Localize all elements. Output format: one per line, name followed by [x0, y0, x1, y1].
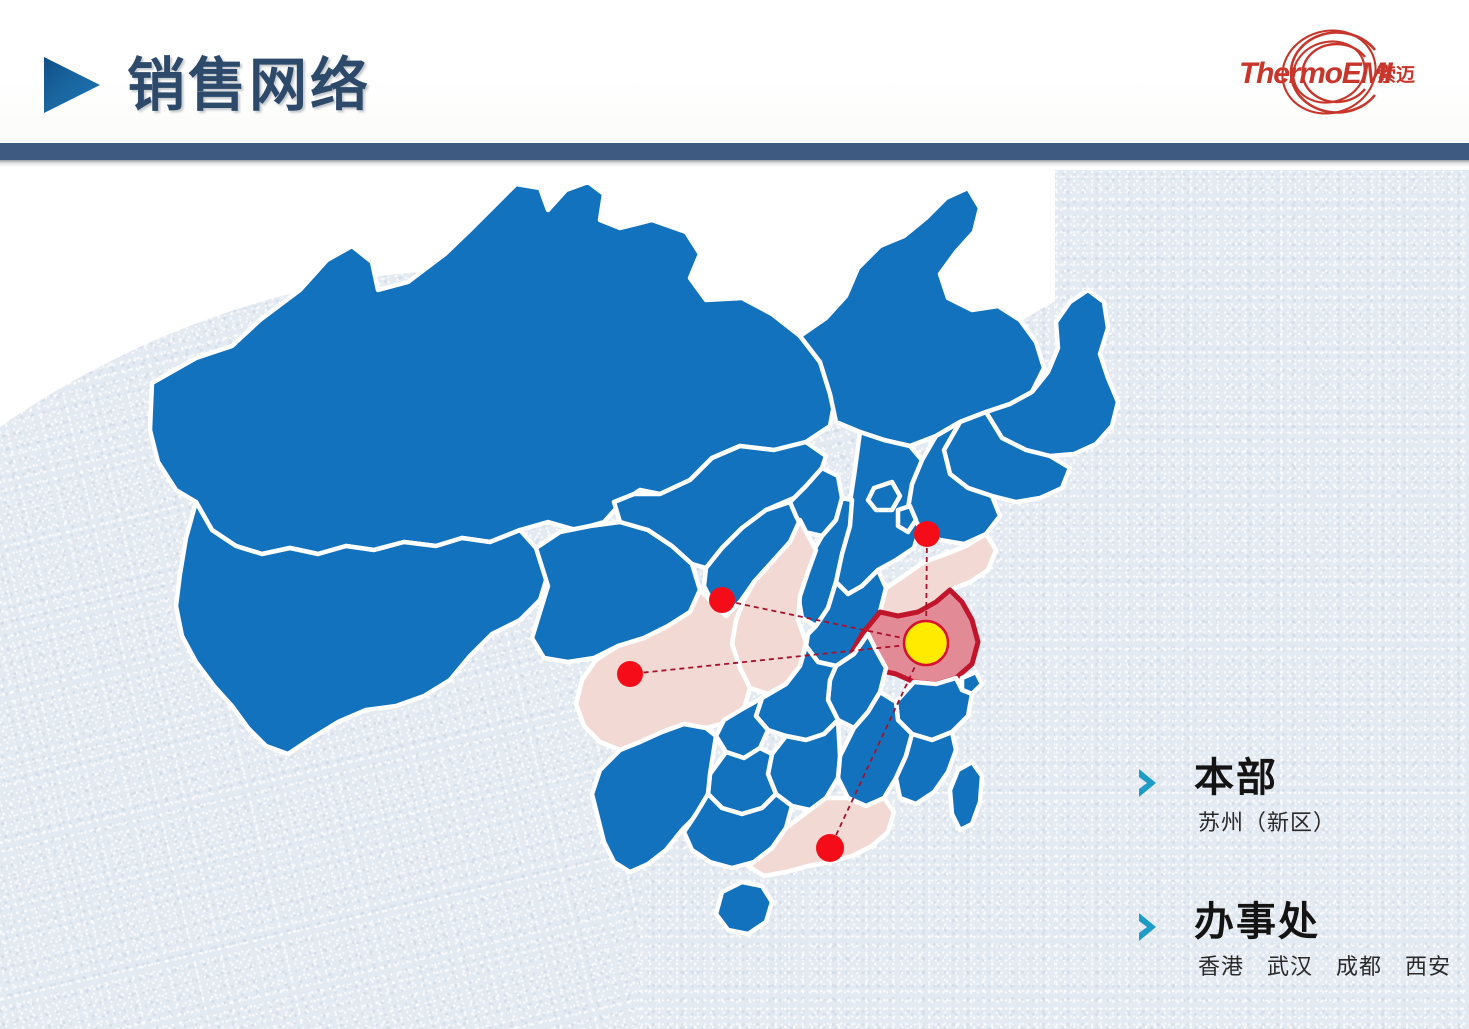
legend-heading-headquarters: 本部: [1194, 757, 1456, 799]
legend-sub-offices: 香港 武汉 成都 西安: [1198, 949, 1456, 981]
header-divider: [0, 143, 1469, 167]
slide-canvas: 销售网络 ThermoEMI 索迈 本部 苏州（新区）: [0, 0, 1469, 1029]
china-sales-network-map[interactable]: [0, 150, 1120, 1029]
logo-wordmark: ThermoEMI: [1239, 57, 1393, 90]
legend-item-offices[interactable]: 办事处 香港 武汉 成都 西安: [1136, 901, 1456, 981]
slide-header: 销售网络 ThermoEMI 索迈: [0, 0, 1469, 143]
legend-item-headquarters[interactable]: 本部 苏州（新区）: [1136, 757, 1456, 837]
header-bar-shadow: [0, 160, 1469, 167]
header-bar: [0, 143, 1469, 160]
chevron-right-icon: [1136, 767, 1162, 799]
province-taiwan: [950, 762, 982, 830]
chevron-right-icon: [1136, 911, 1162, 943]
logo-svg: ThermoEMI 索迈: [1225, 27, 1425, 119]
legend-panel: 本部 苏州（新区） 办事处 香港 武汉 成都 西安: [1136, 757, 1456, 981]
logo-cjk-mark: 索迈: [1377, 63, 1415, 86]
province-beijing: [868, 482, 900, 510]
legend-heading-offices: 办事处: [1194, 901, 1456, 943]
province-tianjin: [898, 506, 916, 532]
page-title: 销售网络: [127, 38, 371, 122]
map-province-group-blue: [150, 182, 1118, 934]
office-marker-xian: [709, 587, 735, 613]
office-marker-wuhan: [914, 521, 940, 547]
office-marker-hongkong: [816, 834, 844, 862]
hq-marker-suzhou: [904, 621, 948, 665]
province-hainan: [716, 882, 772, 934]
office-marker-chengdu: [617, 661, 643, 687]
thermoemi-logo[interactable]: ThermoEMI 索迈: [1225, 27, 1425, 119]
triangle-right-icon: [44, 57, 100, 113]
map-svg: [0, 150, 1120, 1029]
legend-sub-headquarters: 苏州（新区）: [1198, 805, 1456, 837]
